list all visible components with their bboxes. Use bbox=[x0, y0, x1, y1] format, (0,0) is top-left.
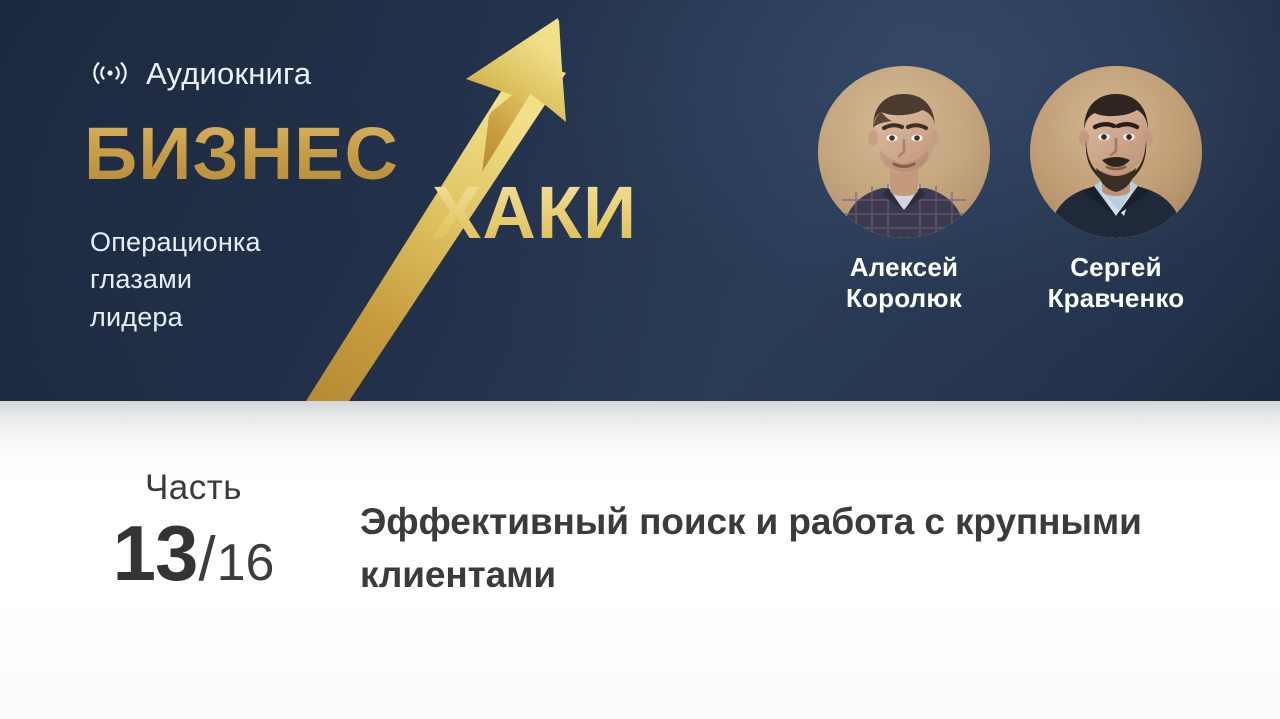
speaker-name: Сергей Кравченко bbox=[1048, 252, 1185, 313]
avatar bbox=[818, 66, 990, 238]
audiobook-label: Аудиокнига bbox=[146, 58, 311, 89]
tagline-line-1: Операционка bbox=[90, 224, 261, 261]
speaker-card: Алексей Королюк bbox=[818, 66, 990, 313]
speaker-first-name: Сергей bbox=[1048, 252, 1185, 283]
tagline-line-2: глазами bbox=[90, 261, 261, 298]
episode-title: Эффективный поиск и работа с крупными кл… bbox=[360, 495, 1150, 602]
part-total-number: 16 bbox=[217, 537, 275, 589]
part-indicator: Часть 13 / 16 bbox=[86, 470, 301, 592]
tagline-line-3: лидера bbox=[90, 299, 261, 336]
hero-panel: Аудиокнига БИЗНЕС ХАКИ Операционка глаза… bbox=[0, 0, 1280, 401]
speakers-group: Алексей Королюк bbox=[818, 66, 1202, 313]
speaker-card: Сергей Кравченко bbox=[1030, 66, 1202, 313]
part-label: Часть bbox=[86, 470, 301, 505]
speaker-first-name: Алексей bbox=[846, 252, 962, 283]
part-numbers: 13 / 16 bbox=[86, 514, 301, 592]
audiobook-badge: Аудиокнига bbox=[88, 57, 311, 89]
part-separator: / bbox=[198, 529, 215, 591]
wordmark-business: БИЗНЕС bbox=[84, 117, 399, 191]
slide-root: Аудиокнига БИЗНЕС ХАКИ Операционка глаза… bbox=[0, 0, 1280, 719]
avatar bbox=[1030, 66, 1202, 238]
part-current-number: 13 bbox=[113, 514, 198, 592]
lower-sheen bbox=[0, 401, 1280, 461]
speaker-last-name: Королюк bbox=[846, 283, 962, 314]
tagline: Операционка глазами лидера bbox=[90, 224, 261, 336]
wordmark-hacks: ХАКИ bbox=[432, 176, 637, 250]
broadcast-icon bbox=[88, 57, 132, 89]
speaker-name: Алексей Королюк bbox=[846, 252, 962, 313]
speaker-last-name: Кравченко bbox=[1048, 283, 1185, 314]
